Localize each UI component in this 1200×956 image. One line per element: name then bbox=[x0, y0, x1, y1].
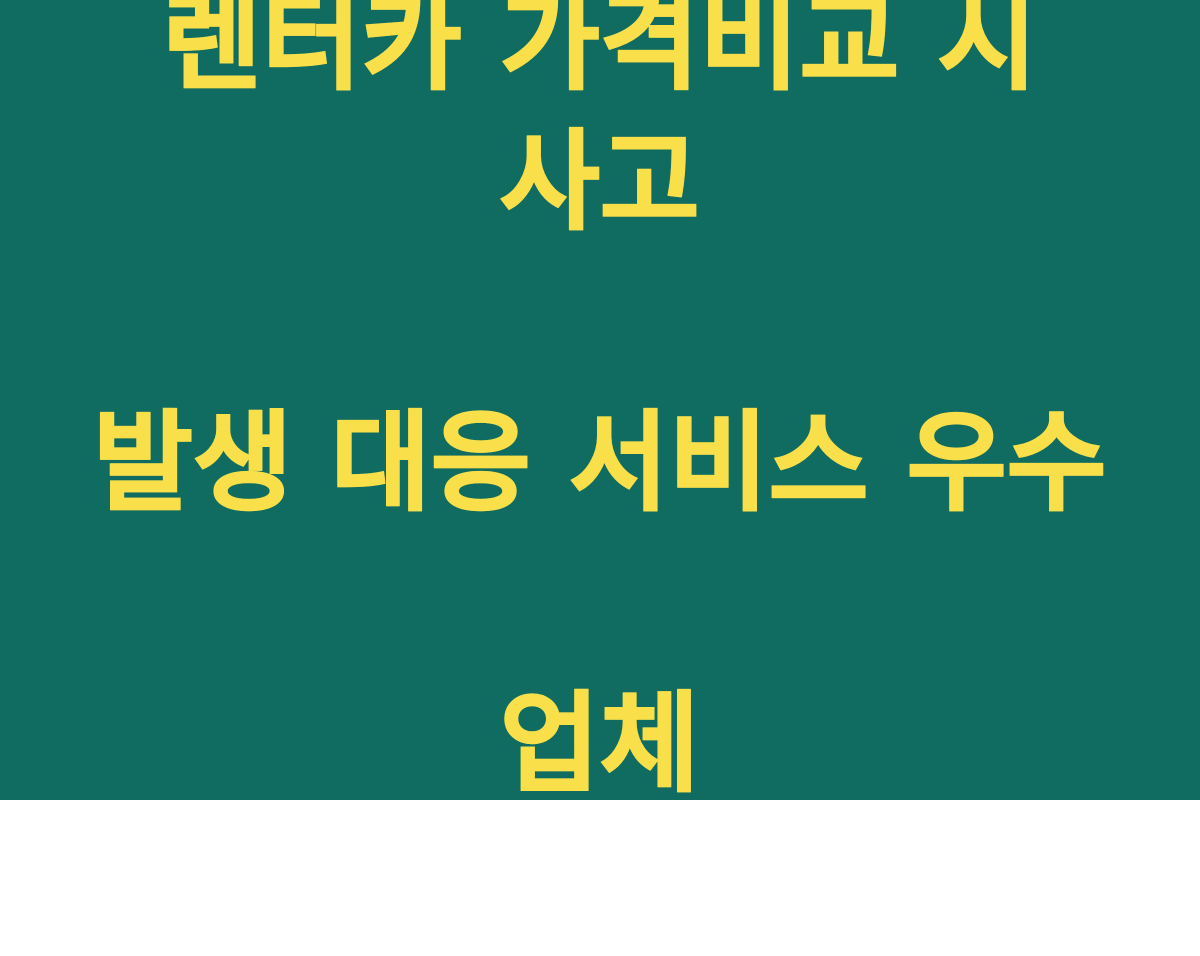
banner-canvas: 렌터카 가격비교 시 사고 발생 대응 서비스 우수 업체 bbox=[0, 0, 1200, 800]
headline-line-1: 렌터카 가격비교 시 사고 bbox=[55, 0, 1145, 254]
headline-line-3: 업체 bbox=[55, 675, 1145, 815]
headline-text: 렌터카 가격비교 시 사고 발생 대응 서비스 우수 업체 bbox=[55, 0, 1145, 956]
headline-line-2: 발생 대응 서비스 우수 bbox=[55, 394, 1145, 534]
